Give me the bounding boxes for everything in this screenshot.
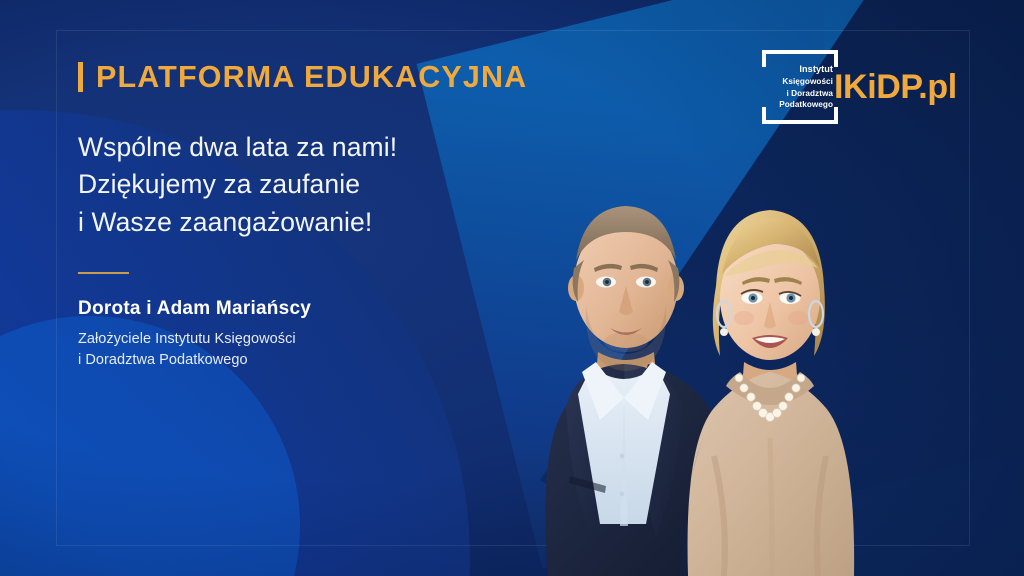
message-line-2: Dziękujemy za zaufanie xyxy=(78,166,638,204)
ikidp-logo[interactable]: Instytut Księgowości i Doradztwa Podatko… xyxy=(762,50,957,124)
eyebrow-accent-bar-icon xyxy=(78,62,83,92)
bracket-bottom-bar xyxy=(762,120,838,124)
logo-wordmark: IKiDP.pl xyxy=(834,70,957,104)
logo-institute-line-1: Instytut xyxy=(762,63,833,76)
logo-bracket-mark: Instytut Księgowości i Doradztwa Podatko… xyxy=(762,50,838,124)
signature-role: Założyciele Instytutu Księgowości i Dora… xyxy=(78,329,638,370)
eyebrow-label: PLATFORMA EDUKACYJNA xyxy=(96,62,527,93)
message: Wspólne dwa lata za nami! Dziękujemy za … xyxy=(78,129,638,242)
logo-institute-line-3: i Doradztwa xyxy=(762,88,833,100)
signature-role-line-1: Założyciele Instytutu Księgowości xyxy=(78,329,638,350)
logo-institute-name: Instytut Księgowości i Doradztwa Podatko… xyxy=(762,63,833,111)
eyebrow: PLATFORMA EDUKACYJNA xyxy=(78,62,638,93)
message-line-1: Wspólne dwa lata za nami! xyxy=(78,129,638,167)
logo-institute-line-4: Podatkowego xyxy=(762,99,833,111)
signature-role-line-2: i Doradztwa Podatkowego xyxy=(78,350,638,371)
bracket-bottom-right-stub xyxy=(834,107,838,124)
signature-name: Dorota i Adam Mariańscy xyxy=(78,298,638,321)
bracket-top-bar xyxy=(762,50,838,54)
banner-content: PLATFORMA EDUKACYJNA Wspólne dwa lata za… xyxy=(78,62,638,370)
logo-institute-line-2: Księgowości xyxy=(762,76,833,88)
message-line-3: i Wasze zaangażowanie! xyxy=(78,204,638,242)
divider-rule xyxy=(78,272,129,274)
promo-banner: Instytut Księgowości i Doradztwa Podatko… xyxy=(0,0,1024,576)
bracket-top-right-stub xyxy=(834,50,838,67)
